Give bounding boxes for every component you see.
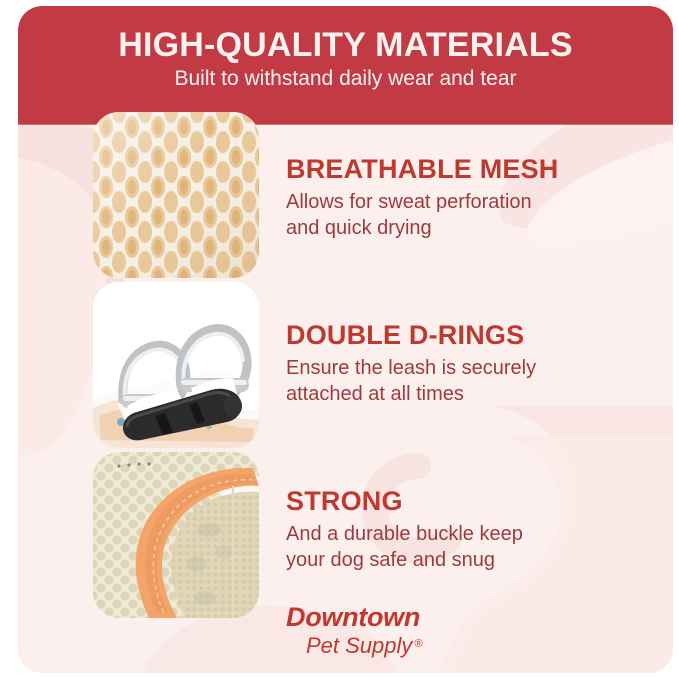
feature-title: DOUBLE D-RINGS [286, 322, 646, 349]
feature-text-double-d-rings: DOUBLE D-RINGS Ensure the leash is secur… [286, 322, 646, 407]
feature-description-line-2: your dog safe and snug [286, 548, 646, 574]
page-title: HIGH-QUALITY MATERIALS [18, 28, 673, 62]
brand-logo-line-1: Downtown [286, 604, 586, 631]
strong-buckle-photo [93, 452, 259, 618]
feature-text-breathable-mesh: BREATHABLE MESH Allows for sweat perfora… [286, 156, 646, 241]
brand-logo: Downtown Pet Supply® [286, 604, 586, 657]
breathable-mesh-photo [93, 112, 259, 278]
double-d-rings-photo [93, 282, 259, 448]
feature-description-line-1: Ensure the leash is securely [286, 356, 646, 382]
feature-description: And a durable buckle keep your dog safe … [286, 522, 646, 573]
brand-logo-line-2-text: Pet Supply [306, 633, 412, 658]
feature-description-line-2: attached at all times [286, 382, 646, 408]
feature-title: STRONG [286, 488, 646, 515]
infographic-root: HIGH-QUALITY MATERIALS Built to withstan… [0, 0, 679, 679]
feature-description: Ensure the leash is securely attached at… [286, 356, 646, 407]
content-panel: HIGH-QUALITY MATERIALS Built to withstan… [18, 6, 673, 673]
header-band: HIGH-QUALITY MATERIALS Built to withstan… [18, 6, 673, 124]
feature-text-strong: STRONG And a durable buckle keep your do… [286, 488, 646, 573]
feature-title: BREATHABLE MESH [286, 156, 646, 183]
feature-description-line-1: And a durable buckle keep [286, 522, 646, 548]
brand-logo-line-2: Pet Supply® [306, 635, 586, 657]
feature-description-line-2: and quick drying [286, 216, 646, 242]
feature-description-line-1: Allows for sweat perforation [286, 190, 646, 216]
feature-description: Allows for sweat perforation and quick d… [286, 190, 646, 241]
page-subtitle: Built to withstand daily wear and tear [18, 68, 673, 89]
registered-trademark-icon: ® [414, 638, 422, 650]
